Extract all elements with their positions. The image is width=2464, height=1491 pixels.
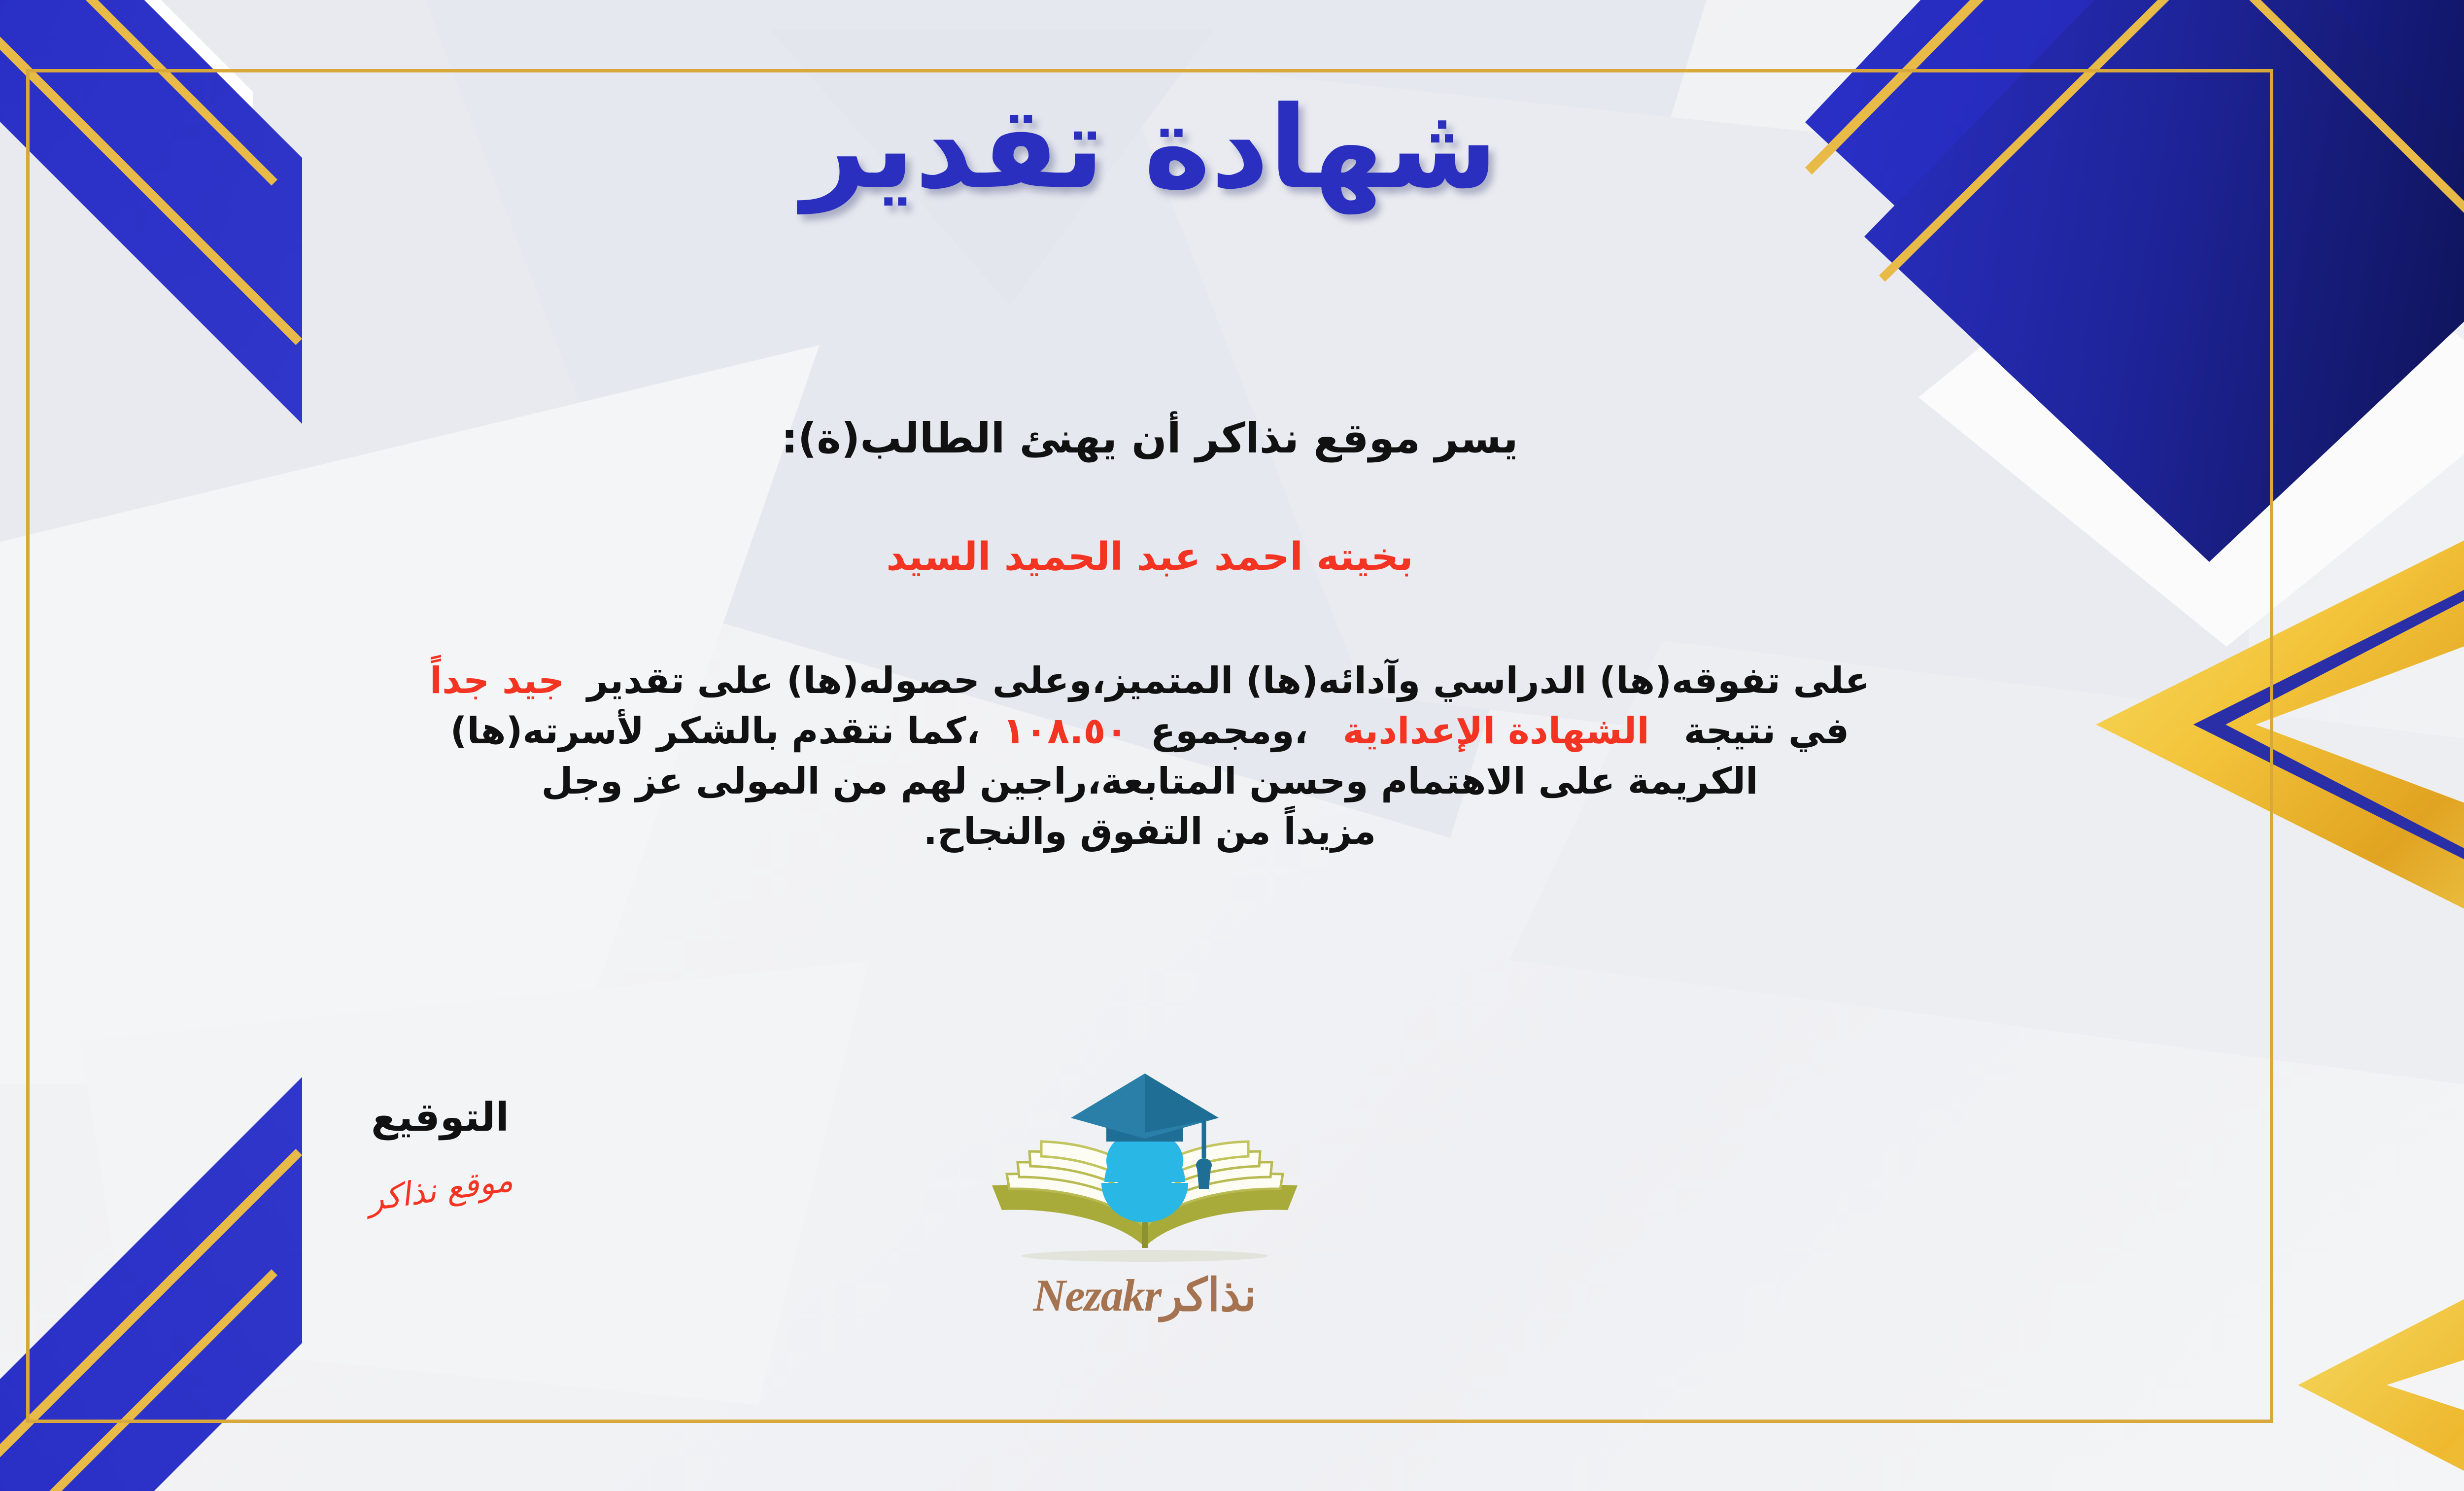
greeting-text: يسر موقع نذاكر أن يهنئ الطالب(ة):: [31, 414, 2268, 462]
signature-script: موقع نذاكر: [365, 1161, 515, 1218]
body-line-2-suffix: ،كما نتقدم بالشكر لأسرته(ها): [450, 710, 980, 752]
body-line-4: مزيداً من التفوق والنجاح.: [41, 806, 2259, 857]
certificate-content: شهادة تقدير يسر موقع نذاكر أن يهنئ الطال…: [31, 74, 2268, 1420]
nezakr-logo: نذاكرNezakr: [958, 1060, 1332, 1365]
certificate-body: على تفوقه(ها) الدراسي وآدائه(ها) المتميز…: [41, 656, 2259, 857]
total-score-value: ١٠٨.٥٠: [1003, 710, 1128, 752]
frame-border-top: [26, 69, 2273, 72]
grade-value: جيد جداً: [430, 659, 565, 702]
body-line-3: الكريمة على الاهتمام وحسن المتابعة،راجين…: [41, 756, 2259, 806]
exam-name-value: الشهادة الإعدادية: [1343, 710, 1649, 752]
body-line-2-mid: ،ومجموع: [1151, 710, 1308, 752]
body-line-1-text: على تفوقه(ها) الدراسي وآدائه(ها) المتميز…: [587, 659, 1870, 702]
frame-border-left: [26, 69, 30, 1423]
logo-latin-text: Nezakr: [1033, 1270, 1161, 1320]
body-line-1: على تفوقه(ها) الدراسي وآدائه(ها) المتميز…: [41, 656, 2259, 706]
signature-label: التوقيع: [253, 1094, 627, 1140]
certificate-title: شهادة تقدير: [31, 89, 2268, 208]
graduation-book-icon: [972, 1060, 1317, 1272]
body-line-2: في نتيجةالشهادة الإعدادية،ومجموع١٠٨.٥٠،ك…: [41, 706, 2259, 756]
student-name: بخيته احمد عبد الحميد السيد: [31, 535, 2268, 579]
certificate-canvas: شهادة تقدير يسر موقع نذاكر أن يهنئ الطال…: [0, 0, 2464, 1491]
signature-block: التوقيع موقع نذاكر: [253, 1094, 627, 1209]
frame-border-bottom: [26, 1420, 2273, 1423]
body-line-2-prefix: في نتيجة: [1684, 710, 1849, 752]
frame-border-right: [2270, 69, 2273, 1423]
logo-wordmark: نذاكرNezakr: [958, 1269, 1332, 1321]
logo-arabic-text: نذاكر: [1161, 1270, 1256, 1320]
graduate-figure-icon: [1101, 1130, 1188, 1222]
